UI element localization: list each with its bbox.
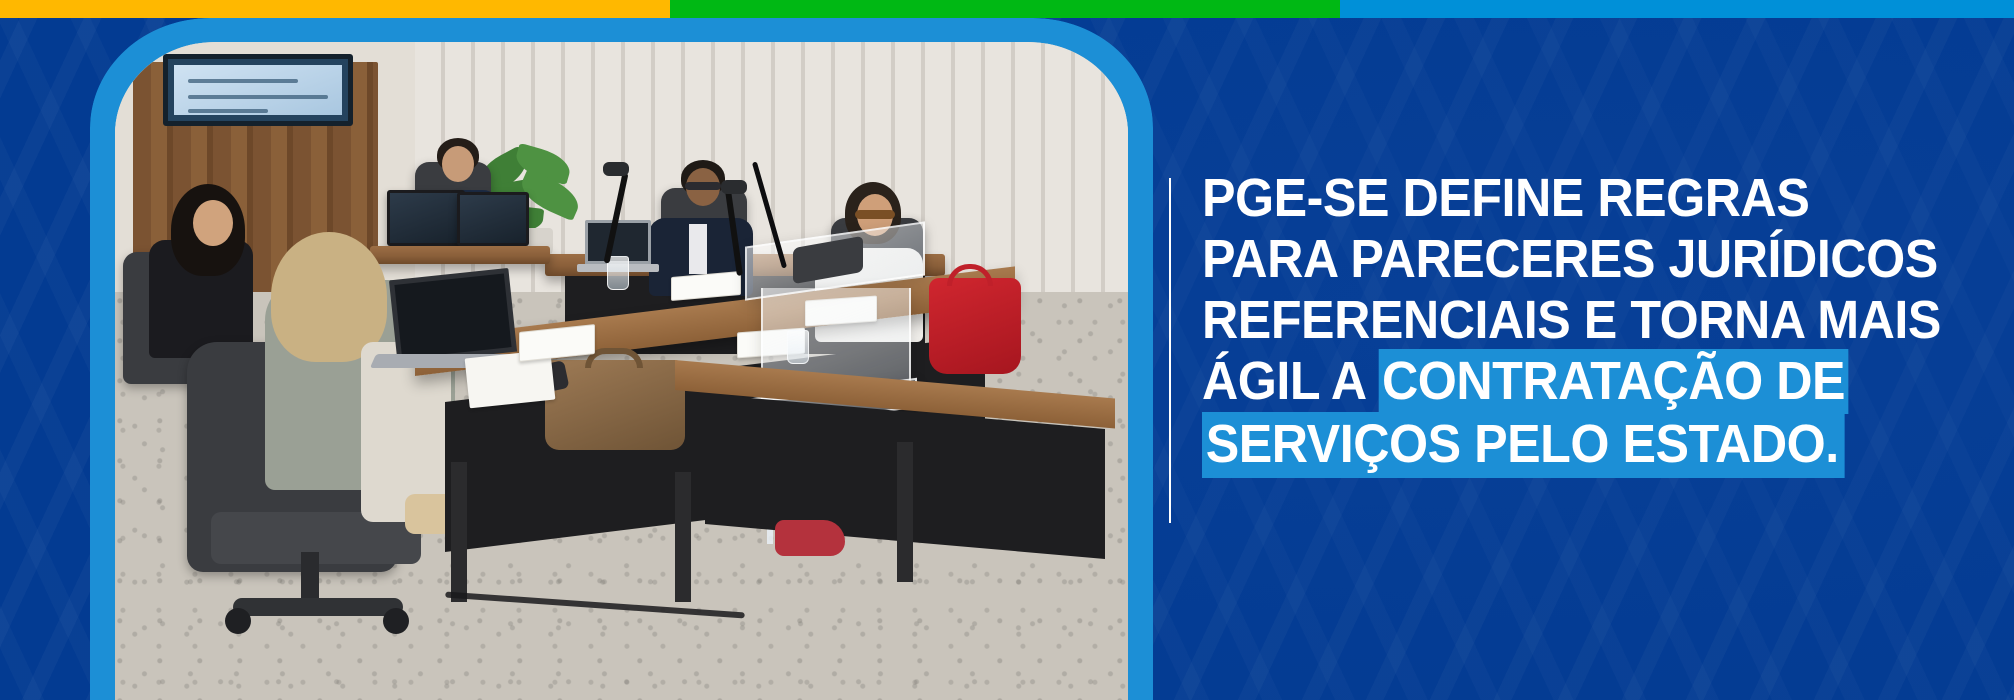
scene-desk-center bbox=[370, 246, 550, 264]
headline-highlight-4-2: CONTRATAÇÃO DE bbox=[1378, 349, 1849, 414]
headline-line-2: PARA PARECERES JURÍDICOS bbox=[1202, 229, 1927, 290]
scene-chair-caster bbox=[225, 608, 251, 634]
scene-desk-leg bbox=[675, 472, 691, 602]
scene-desk-leg bbox=[897, 442, 913, 582]
scene-microphone-head bbox=[603, 162, 629, 176]
scene-monitor-screen bbox=[390, 193, 462, 243]
photo-scene bbox=[115, 42, 1128, 700]
scene-chair-base bbox=[233, 598, 403, 616]
top-color-bar bbox=[0, 0, 2014, 18]
scene-tv-text-line-3 bbox=[188, 109, 268, 113]
scene-red-shoe bbox=[775, 520, 845, 556]
scene-microphone-head bbox=[721, 180, 747, 194]
headline-line-3: REFERENCIAIS E TORNA MAIS bbox=[1202, 290, 1927, 351]
scene-tv-text-line-1 bbox=[188, 79, 298, 83]
headline-text-2-1: PARA PARECERES JURÍDICOS bbox=[1202, 229, 1938, 289]
top-bar-segment-green bbox=[670, 0, 1340, 18]
scene-laptop-screen bbox=[394, 273, 511, 358]
headline-text-1-1: PGE-SE DEFINE REGRAS bbox=[1202, 168, 1809, 228]
scene-monitor-screen bbox=[460, 195, 526, 243]
scene-monitor bbox=[387, 190, 465, 246]
photo-image bbox=[115, 42, 1128, 700]
headline-line-5-highlighted: SERVIÇOS PELO ESTADO. bbox=[1202, 412, 1844, 478]
scene-desk-leg bbox=[451, 462, 467, 602]
headline: PGE-SE DEFINE REGRASPARA PARECERES JURÍD… bbox=[1202, 168, 1982, 478]
scene-wall-tv bbox=[163, 54, 353, 126]
headline-text-3-1: REFERENCIAIS E TORNA MAIS bbox=[1202, 290, 1941, 350]
scene-person-shirt bbox=[689, 224, 707, 274]
news-banner: PGE-SE DEFINE REGRASPARA PARECERES JURÍD… bbox=[0, 0, 2014, 700]
scene-water-glass bbox=[607, 256, 629, 290]
scene-red-bag bbox=[929, 278, 1021, 374]
headline-line-1: PGE-SE DEFINE REGRAS bbox=[1202, 168, 1927, 229]
scene-tv-screen bbox=[174, 65, 342, 115]
scene-chair-caster bbox=[383, 608, 409, 634]
scene-tv-text-line-2 bbox=[188, 95, 328, 99]
scene-monitor bbox=[457, 192, 529, 246]
scene-person-glasses bbox=[685, 182, 721, 190]
scene-person-head bbox=[193, 200, 233, 246]
scene-person-head bbox=[442, 146, 474, 182]
top-bar-segment-blue bbox=[1340, 0, 2014, 18]
vertical-divider bbox=[1169, 178, 1171, 523]
scene-person-glasses bbox=[855, 210, 895, 219]
top-bar-segment-yellow bbox=[0, 0, 670, 18]
scene-laptop bbox=[389, 268, 517, 364]
headline-text-4-1: ÁGIL A bbox=[1202, 351, 1378, 411]
headline-line-4: ÁGIL A CONTRATAÇÃO DE bbox=[1202, 351, 1927, 412]
photo-panel bbox=[90, 18, 1153, 700]
